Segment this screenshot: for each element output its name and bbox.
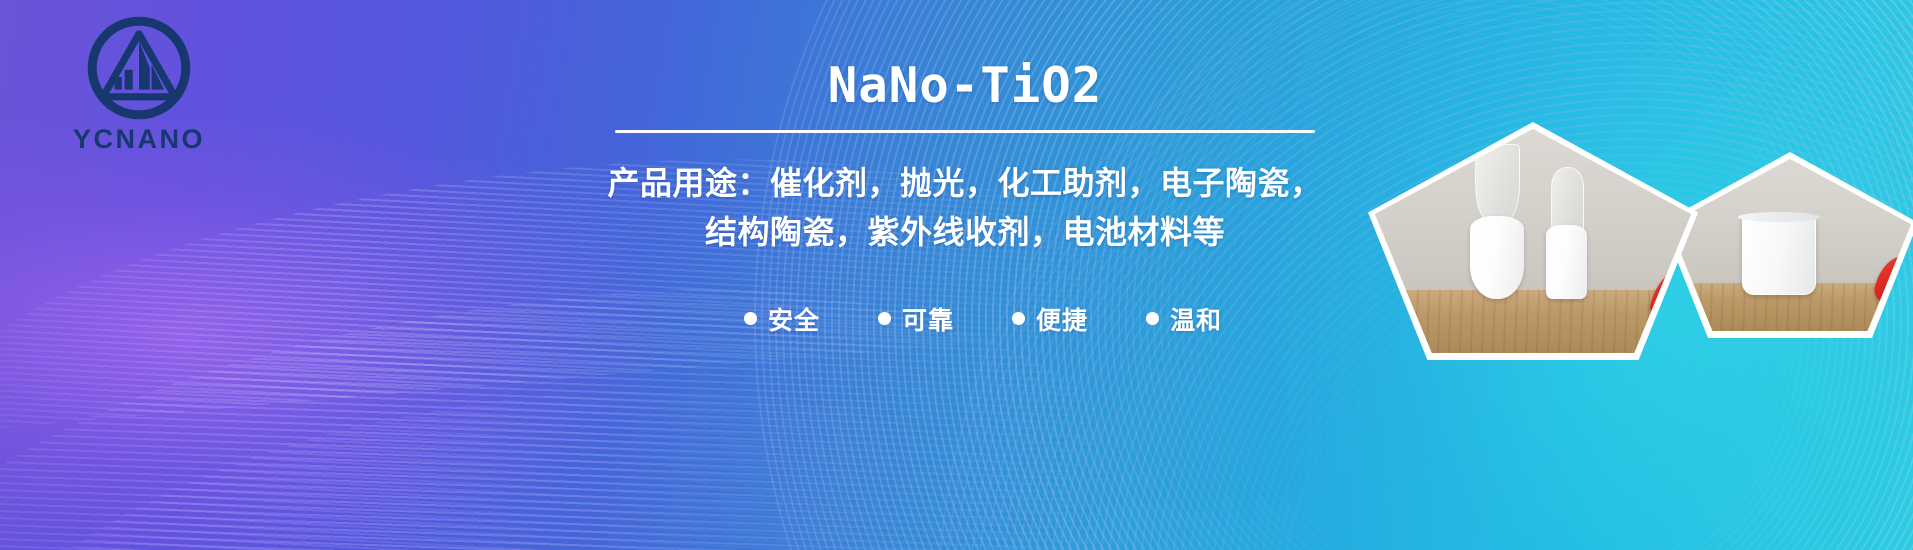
description-line-2: 结构陶瓷，紫外线收剂，电池材料等 xyxy=(470,208,1460,257)
bullet-dot-icon xyxy=(1146,312,1159,325)
title-divider xyxy=(615,130,1315,133)
feature-label: 便捷 xyxy=(1036,301,1088,337)
triangle-mountain-in-circle-icon xyxy=(85,14,193,122)
product-photo-vases xyxy=(1368,122,1698,360)
vase-body xyxy=(1546,225,1587,299)
vase-neck xyxy=(1551,167,1584,233)
bullet-dot-icon xyxy=(1012,312,1025,325)
feature-label: 安全 xyxy=(768,301,820,337)
feature-label: 可靠 xyxy=(902,301,954,337)
company-logo[interactable]: YCNANO xyxy=(44,14,234,155)
product-banner: YCNANO NaNo-TiO2 产品用途：催化剂，抛光，化工助剂，电子陶瓷， … xyxy=(0,0,1913,550)
feature-item-mild: 温和 xyxy=(1146,301,1222,337)
feature-item-safe: 安全 xyxy=(744,301,820,337)
pentagon-photo-inner xyxy=(1669,159,1911,331)
product-description: 产品用途：催化剂，抛光，化工助剂，电子陶瓷， 结构陶瓷，紫外线收剂，电池材料等 xyxy=(470,159,1460,256)
ceramic-vase-tall xyxy=(1470,151,1524,299)
logo-wordmark: YCNANO xyxy=(44,124,234,155)
hero-copy: NaNo-TiO2 产品用途：催化剂，抛光，化工助剂，电子陶瓷， 结构陶瓷，紫外… xyxy=(470,60,1460,337)
feature-list: 安全 可靠 便捷 温和 xyxy=(470,301,1460,337)
product-photo-beaker xyxy=(1662,152,1913,338)
vase-body xyxy=(1470,216,1524,299)
wave-line-layer-3 xyxy=(0,331,1102,550)
photo-background-wall xyxy=(1375,129,1691,290)
feature-item-convenient: 便捷 xyxy=(1012,301,1088,337)
page-title: NaNo-TiO2 xyxy=(470,60,1460,111)
feature-item-reliable: 可靠 xyxy=(878,301,954,337)
feature-label: 温和 xyxy=(1170,301,1222,337)
bullet-dot-icon xyxy=(878,312,891,325)
ceramic-vase-short xyxy=(1546,176,1587,299)
pentagon-photo-inner xyxy=(1375,129,1691,353)
bullet-dot-icon xyxy=(744,312,757,325)
description-line-1: 产品用途：催化剂，抛光，化工助剂，电子陶瓷， xyxy=(470,159,1460,208)
beaker-object xyxy=(1742,217,1817,295)
